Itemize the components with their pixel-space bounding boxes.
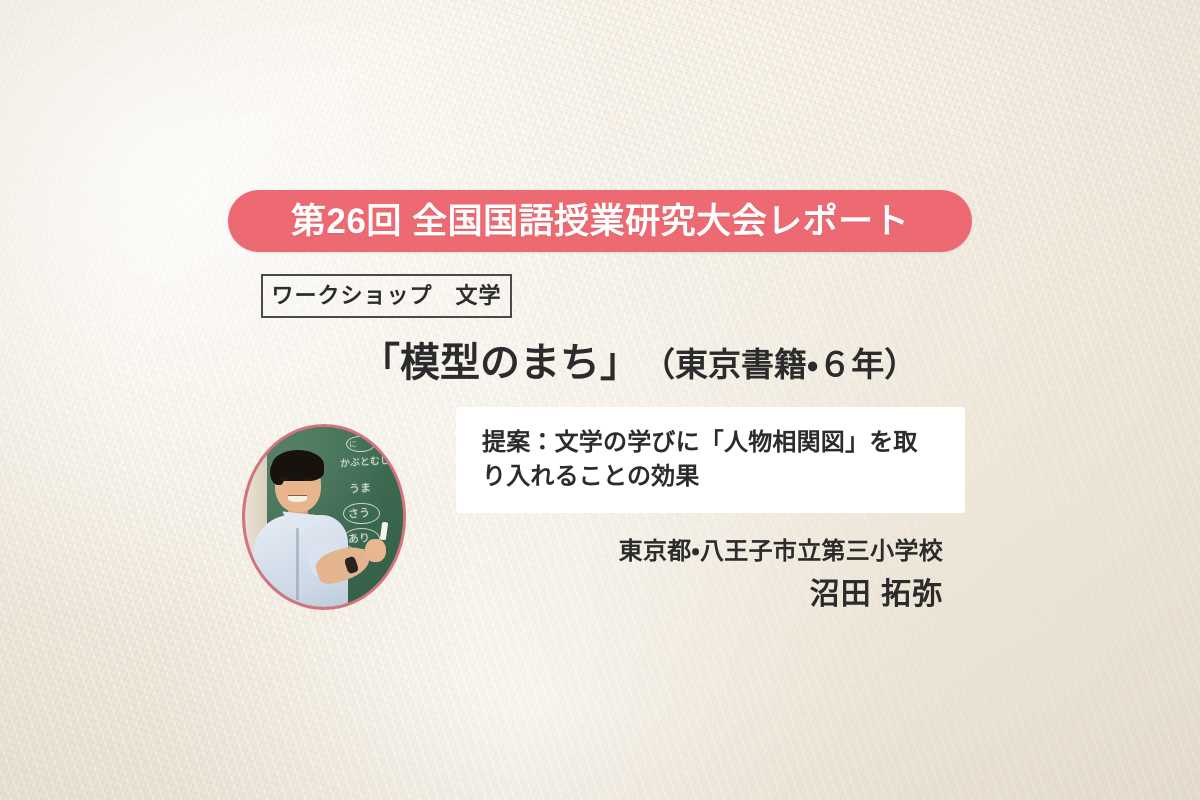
background-vignette <box>0 0 1200 800</box>
proposal-text: 提案：文学の学びに「人物相関図」を取り入れることの効果 <box>482 426 941 494</box>
event-title-banner: 第26回 全国国語授業研究大会レポート <box>228 190 972 252</box>
category-tag-label: ワークショップ 文学 <box>271 285 501 307</box>
presenter-portrait-avatar: に かぶとむし うま さう あり <box>242 424 406 610</box>
report-slide: 第26回 全国国語授業研究大会レポート ワークショップ 文学 「模型のまち」 （… <box>0 0 1200 800</box>
proposal-card: 提案：文学の学びに「人物相関図」を取り入れることの効果 <box>456 407 965 513</box>
presenter-hand <box>365 539 386 562</box>
page-title-main: 「模型のまち」 <box>360 343 640 383</box>
chalk-note: さう <box>347 507 370 520</box>
presenter-shirt-placket <box>296 528 299 600</box>
page-title-source: （東京書籍・６年） <box>642 348 917 381</box>
chalk-note: に <box>349 441 358 450</box>
presenter-affiliation: 東京都・八王子市立第三小学校 <box>520 538 943 567</box>
chalk-note: うま <box>349 482 372 495</box>
presenter-block: 東京都・八王子市立第三小学校 沼田 拓弥 <box>520 538 943 613</box>
event-title-text: 第26回 全国国語授業研究大会レポート <box>291 204 909 239</box>
paper-background-texture <box>0 0 1200 800</box>
presenter-name: 沼田 拓弥 <box>520 577 943 613</box>
presenter-smile <box>288 495 307 501</box>
category-tag: ワークショップ 文学 <box>261 274 512 318</box>
page-title: 「模型のまち」 （東京書籍・６年） <box>360 343 917 395</box>
presenter-hair-side <box>270 461 284 484</box>
